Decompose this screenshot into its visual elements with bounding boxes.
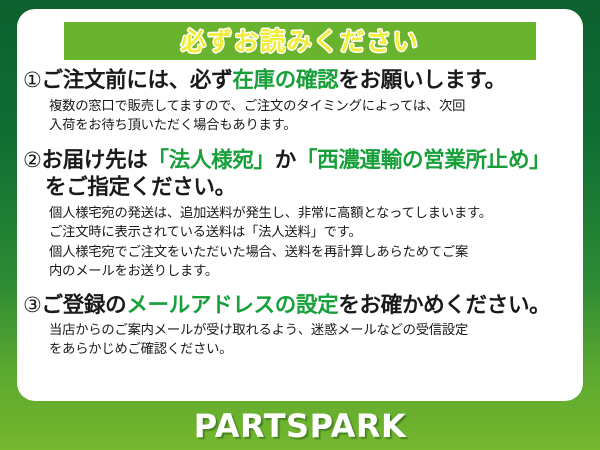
- notice-item-heading: ②お届け先は「法人様宛」か「西濃運輸の営業所止め」: [23, 147, 575, 175]
- notice-item-highlight: 「法人様宛」: [148, 148, 275, 173]
- notice-item-body: 複数の窓口で販売してますので、ご注文のタイミングによっては、次回入荷をお待ち頂い…: [23, 97, 575, 135]
- notice-item-body-line: 個人様宅宛の発送は、追加送料が発生し、非常に高額となってしまいます。: [49, 204, 575, 223]
- notice-item-list: ①ご注文前には、必ず在庫の確認をお願いします。複数の窓口で販売してますので、ご注…: [17, 67, 583, 360]
- notice-item-body-line: ご注文時に表示されている送料は「法人送料」です。: [49, 223, 575, 242]
- notice-item: ①ご注文前には、必ず在庫の確認をお願いします。複数の窓口で販売してますので、ご注…: [23, 67, 575, 135]
- notice-item-number: ②: [23, 148, 42, 172]
- notice-item-body-line: をあらかじめご確認ください。: [49, 340, 575, 359]
- notice-item-body-line: 内のメールをお送りします。: [49, 262, 575, 281]
- notice-item-body: 当店からのご案内メールが受け取れるよう、迷惑メールなどの受信設定をあらかじめご確…: [23, 321, 575, 359]
- banner-title: 必ずお読みください: [181, 29, 420, 54]
- notice-item-body-line: 当店からのご案内メールが受け取れるよう、迷惑メールなどの受信設定: [49, 321, 575, 340]
- notice-item-number: ①: [23, 68, 42, 92]
- brand-logo-text: PARTSPARK: [194, 410, 407, 442]
- notice-item-heading-text: か: [275, 148, 296, 173]
- notice-item-heading-continuation: をご指定ください。: [23, 174, 575, 202]
- notice-panel: 必ずお読みください ①ご注文前には、必ず在庫の確認をお願いします。複数の窓口で販…: [17, 9, 583, 401]
- notice-item-number: ③: [23, 293, 42, 317]
- notice-item-body-line: 入荷をお待ち頂いただく場合もあります。: [49, 116, 575, 135]
- notice-item: ③ご登録のメールアドレスの設定をお確かめください。当店からのご案内メールが受け取…: [23, 292, 575, 360]
- notice-item-heading: ③ご登録のメールアドレスの設定をお確かめください。: [23, 292, 575, 320]
- notice-item-heading-text: をお確かめください。: [338, 293, 550, 318]
- notice-item-body: 個人様宅宛の発送は、追加送料が発生し、非常に高額となってしまいます。ご注文時に表…: [23, 204, 575, 281]
- notice-item-heading-text: お届け先は: [42, 148, 148, 173]
- notice-item-heading-text: ご注文前には、必ず: [42, 68, 233, 93]
- notice-item-heading-text: をお願いします。: [338, 68, 505, 93]
- notice-item: ②お届け先は「法人様宛」か「西濃運輸の営業所止め」をご指定ください。個人様宅宛の…: [23, 147, 575, 281]
- notice-item-heading-text: ご登録の: [42, 293, 127, 318]
- notice-item-body-line: 個人様宅宛でご注文をいただいた場合、送料を再計算しあらためてご案: [49, 243, 575, 262]
- notice-item-highlight: 「西濃運輸の営業所止め」: [296, 148, 550, 173]
- header-banner: 必ずお読みください: [64, 22, 536, 60]
- footer-brand-bar: PARTSPARK: [0, 401, 600, 450]
- notice-item-highlight: メールアドレスの設定: [126, 293, 338, 318]
- notice-item-highlight: 在庫の確認: [232, 68, 338, 93]
- notice-item-heading: ①ご注文前には、必ず在庫の確認をお願いします。: [23, 67, 575, 95]
- notice-frame: 必ずお読みください ①ご注文前には、必ず在庫の確認をお願いします。複数の窓口で販…: [0, 0, 600, 450]
- notice-item-body-line: 複数の窓口で販売してますので、ご注文のタイミングによっては、次回: [49, 97, 575, 116]
